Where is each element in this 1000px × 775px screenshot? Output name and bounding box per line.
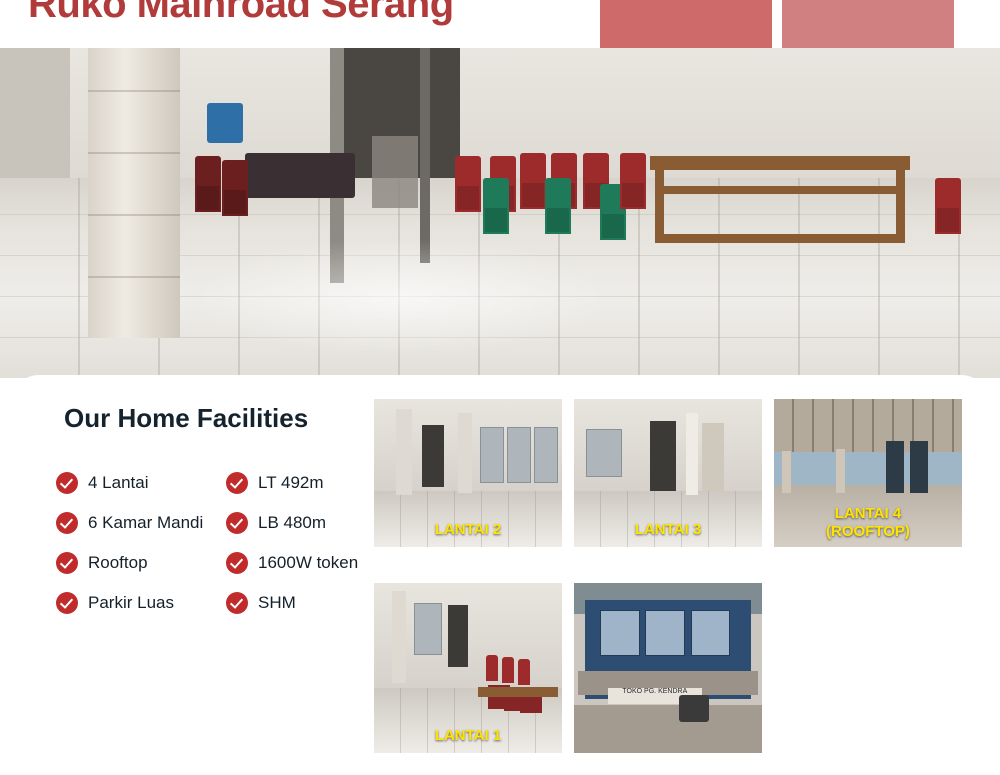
facility-item: LT 492m xyxy=(226,472,386,494)
thumb-ceiling xyxy=(774,399,962,452)
thumb-window xyxy=(414,603,442,655)
page-title: Ruko Mainroad Serang xyxy=(28,0,454,27)
hero-photo xyxy=(0,48,1000,378)
thumb-door xyxy=(448,605,468,667)
thumbnail-lantai-3: LANTAI 3 xyxy=(574,399,762,547)
thumbnail-caption: LANTAI 3 xyxy=(574,521,762,539)
thumb-door xyxy=(422,425,444,487)
thumb-ground xyxy=(574,705,762,753)
facility-label: 6 Kamar Mandi xyxy=(88,513,203,533)
hero-floor-reflection xyxy=(190,238,610,358)
thumb-opening xyxy=(886,441,904,493)
thumbnail-caption: LANTAI 1 xyxy=(374,727,562,745)
ribbon-decoration-1 xyxy=(600,0,772,48)
thumb-window xyxy=(600,610,640,656)
hero-chair xyxy=(455,156,481,212)
hero-chair xyxy=(195,156,221,212)
thumbnail-caption: LANTAI 2 xyxy=(374,521,562,539)
thumbnail-shop-front: TOKO PG. KENDRA xyxy=(574,583,762,753)
thumb-door xyxy=(650,421,676,491)
facility-label: Rooftop xyxy=(88,553,148,573)
check-icon xyxy=(226,472,248,494)
thumb-window xyxy=(645,610,685,656)
hero-chair xyxy=(222,160,248,216)
thumb-table xyxy=(478,687,558,697)
facility-item: 4 Lantai xyxy=(56,472,226,494)
thumb-door xyxy=(702,423,724,491)
hero-table-legs xyxy=(655,168,905,243)
header-banner: Ruko Mainroad Serang xyxy=(0,0,1000,48)
check-icon xyxy=(226,512,248,534)
thumb-column xyxy=(782,451,791,493)
thumbnail-lantai-2: LANTAI 2 xyxy=(374,399,562,547)
facilities-list: 4 Lantai LT 492m 6 Kamar Mandi LB 480m R… xyxy=(56,463,386,623)
thumb-window xyxy=(691,610,731,656)
hero-door-frame-2 xyxy=(420,48,430,263)
thumb-sky xyxy=(774,452,962,485)
thumb-column xyxy=(392,591,406,683)
hero-blue-container xyxy=(207,103,243,143)
hero-chair xyxy=(935,178,961,234)
facility-label: LB 480m xyxy=(258,513,326,533)
thumb-column xyxy=(396,409,412,495)
check-icon xyxy=(226,592,248,614)
check-icon xyxy=(56,512,78,534)
hero-chair xyxy=(520,153,546,209)
facility-item: Parkir Luas xyxy=(56,592,226,614)
thumb-chair xyxy=(502,657,514,683)
hero-chair xyxy=(620,153,646,209)
thumb-column xyxy=(686,413,698,495)
thumbnail-caption: LANTAI 4 (ROOFTOP) xyxy=(774,505,962,541)
facility-label: SHM xyxy=(258,593,296,613)
check-icon xyxy=(56,472,78,494)
facility-item: LB 480m xyxy=(226,512,386,534)
facility-label: 4 Lantai xyxy=(88,473,149,493)
facilities-title: Our Home Facilities xyxy=(64,403,308,434)
ribbon-decoration-2 xyxy=(782,0,954,48)
thumb-window xyxy=(534,427,558,483)
hero-sofa xyxy=(245,153,355,198)
thumb-window xyxy=(480,427,504,483)
facility-item: Rooftop xyxy=(56,552,226,574)
facility-label: LT 492m xyxy=(258,473,324,493)
thumbnail-caption-line2: (ROOFTOP) xyxy=(826,523,910,540)
hero-clutter xyxy=(372,136,418,208)
thumb-chair xyxy=(486,655,498,681)
thumb-column xyxy=(836,449,845,493)
facility-item: 1600W token xyxy=(226,552,386,574)
hero-chair xyxy=(483,178,509,234)
check-icon xyxy=(56,552,78,574)
thumb-motorcycle xyxy=(679,695,709,722)
thumb-window xyxy=(586,429,622,477)
facilities-card: Our Home Facilities 4 Lantai LT 492m 6 K… xyxy=(16,375,984,775)
thumb-chair xyxy=(518,659,530,685)
thumbnail-caption-line1: LANTAI 4 xyxy=(835,505,901,522)
facility-item: SHM xyxy=(226,592,386,614)
facility-label: 1600W token xyxy=(258,553,358,573)
hero-chair xyxy=(545,178,571,234)
facility-label: Parkir Luas xyxy=(88,593,174,613)
check-icon xyxy=(56,592,78,614)
check-icon xyxy=(226,552,248,574)
thumb-column xyxy=(458,413,472,493)
thumbnail-lantai-1: LANTAI 1 xyxy=(374,583,562,753)
hero-column xyxy=(88,48,180,338)
thumb-opening xyxy=(910,441,928,493)
thumbnail-lantai-4-rooftop: LANTAI 4 (ROOFTOP) xyxy=(774,399,962,547)
facility-item: 6 Kamar Mandi xyxy=(56,512,226,534)
thumb-window xyxy=(507,427,531,483)
